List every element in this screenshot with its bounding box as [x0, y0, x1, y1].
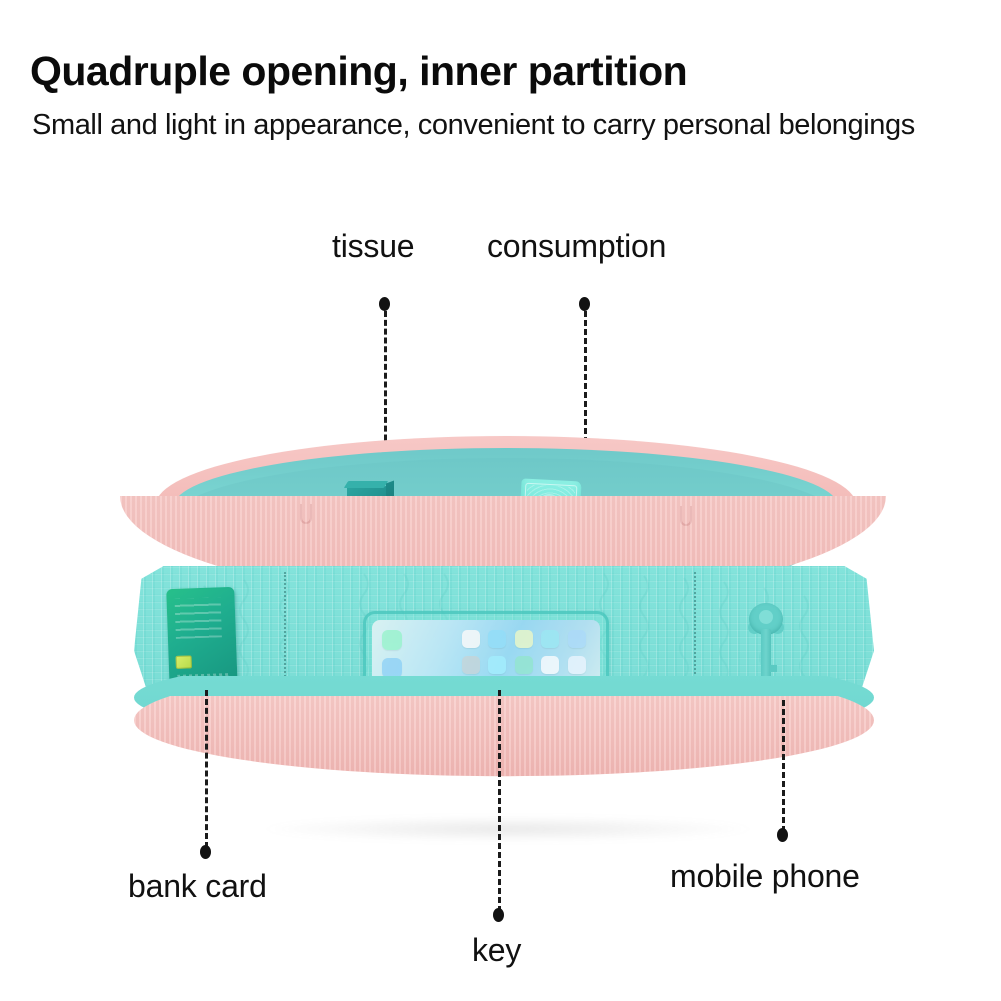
belt-bottom-pink-band — [134, 696, 874, 806]
page-subtitle: Small and light in appearance, convenien… — [32, 109, 982, 142]
callout-label-tissue: tissue — [332, 228, 414, 265]
leader-dot-mobile-phone — [777, 828, 788, 842]
waist-belt-illustration — [108, 418, 898, 818]
belt-loop-left — [300, 504, 312, 524]
leader-line-key — [498, 690, 501, 912]
page-title: Quadruple opening, inner partition — [30, 48, 970, 95]
leader-dot-key — [493, 908, 504, 922]
belt-loop-right — [680, 506, 692, 526]
tissue-box-lid — [344, 481, 388, 488]
ground-shadow — [258, 816, 758, 842]
leader-line-bank-card — [205, 690, 208, 848]
leader-dot-consumption — [579, 297, 590, 311]
key-tooth-upper — [770, 665, 777, 672]
card-chip-icon — [176, 655, 192, 669]
card-embossed-lines — [175, 597, 222, 639]
leader-dot-tissue — [379, 297, 390, 311]
callout-label-mobile-phone: mobile phone — [670, 858, 860, 895]
callout-label-consumption: consumption — [487, 228, 666, 265]
callout-label-key: key — [472, 932, 521, 969]
infographic-canvas: Quadruple opening, inner partition Small… — [0, 0, 1001, 1001]
leader-line-mobile-phone — [782, 700, 785, 832]
callout-label-bank-card: bank card — [128, 868, 267, 905]
leader-dot-bank-card — [200, 845, 211, 859]
